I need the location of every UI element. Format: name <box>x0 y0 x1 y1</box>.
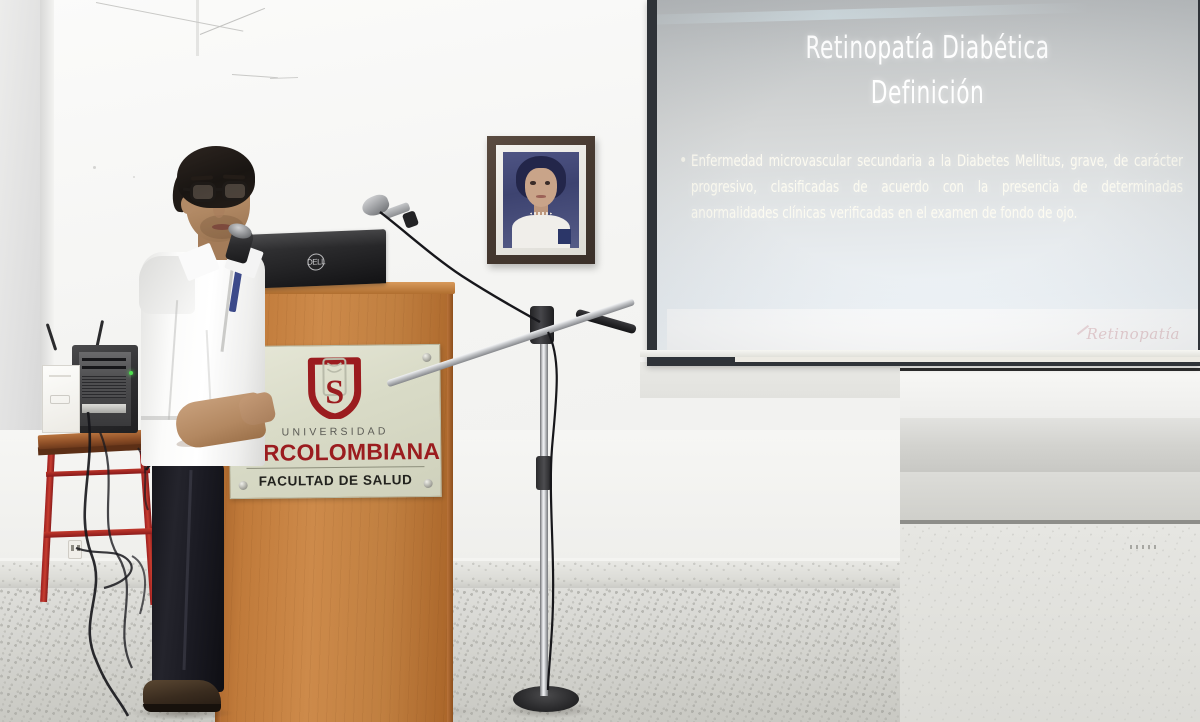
glasses-bridge <box>215 188 224 191</box>
presenter <box>0 0 1200 722</box>
glasses-lens-left-icon <box>190 182 216 202</box>
shoe-sole <box>143 704 221 712</box>
lecture-room-photo: Retinopatía Diabética Definición Enferme… <box>0 0 1200 722</box>
glasses-lens-right-icon <box>222 181 248 201</box>
presenter-eyebrow-right <box>223 175 245 180</box>
